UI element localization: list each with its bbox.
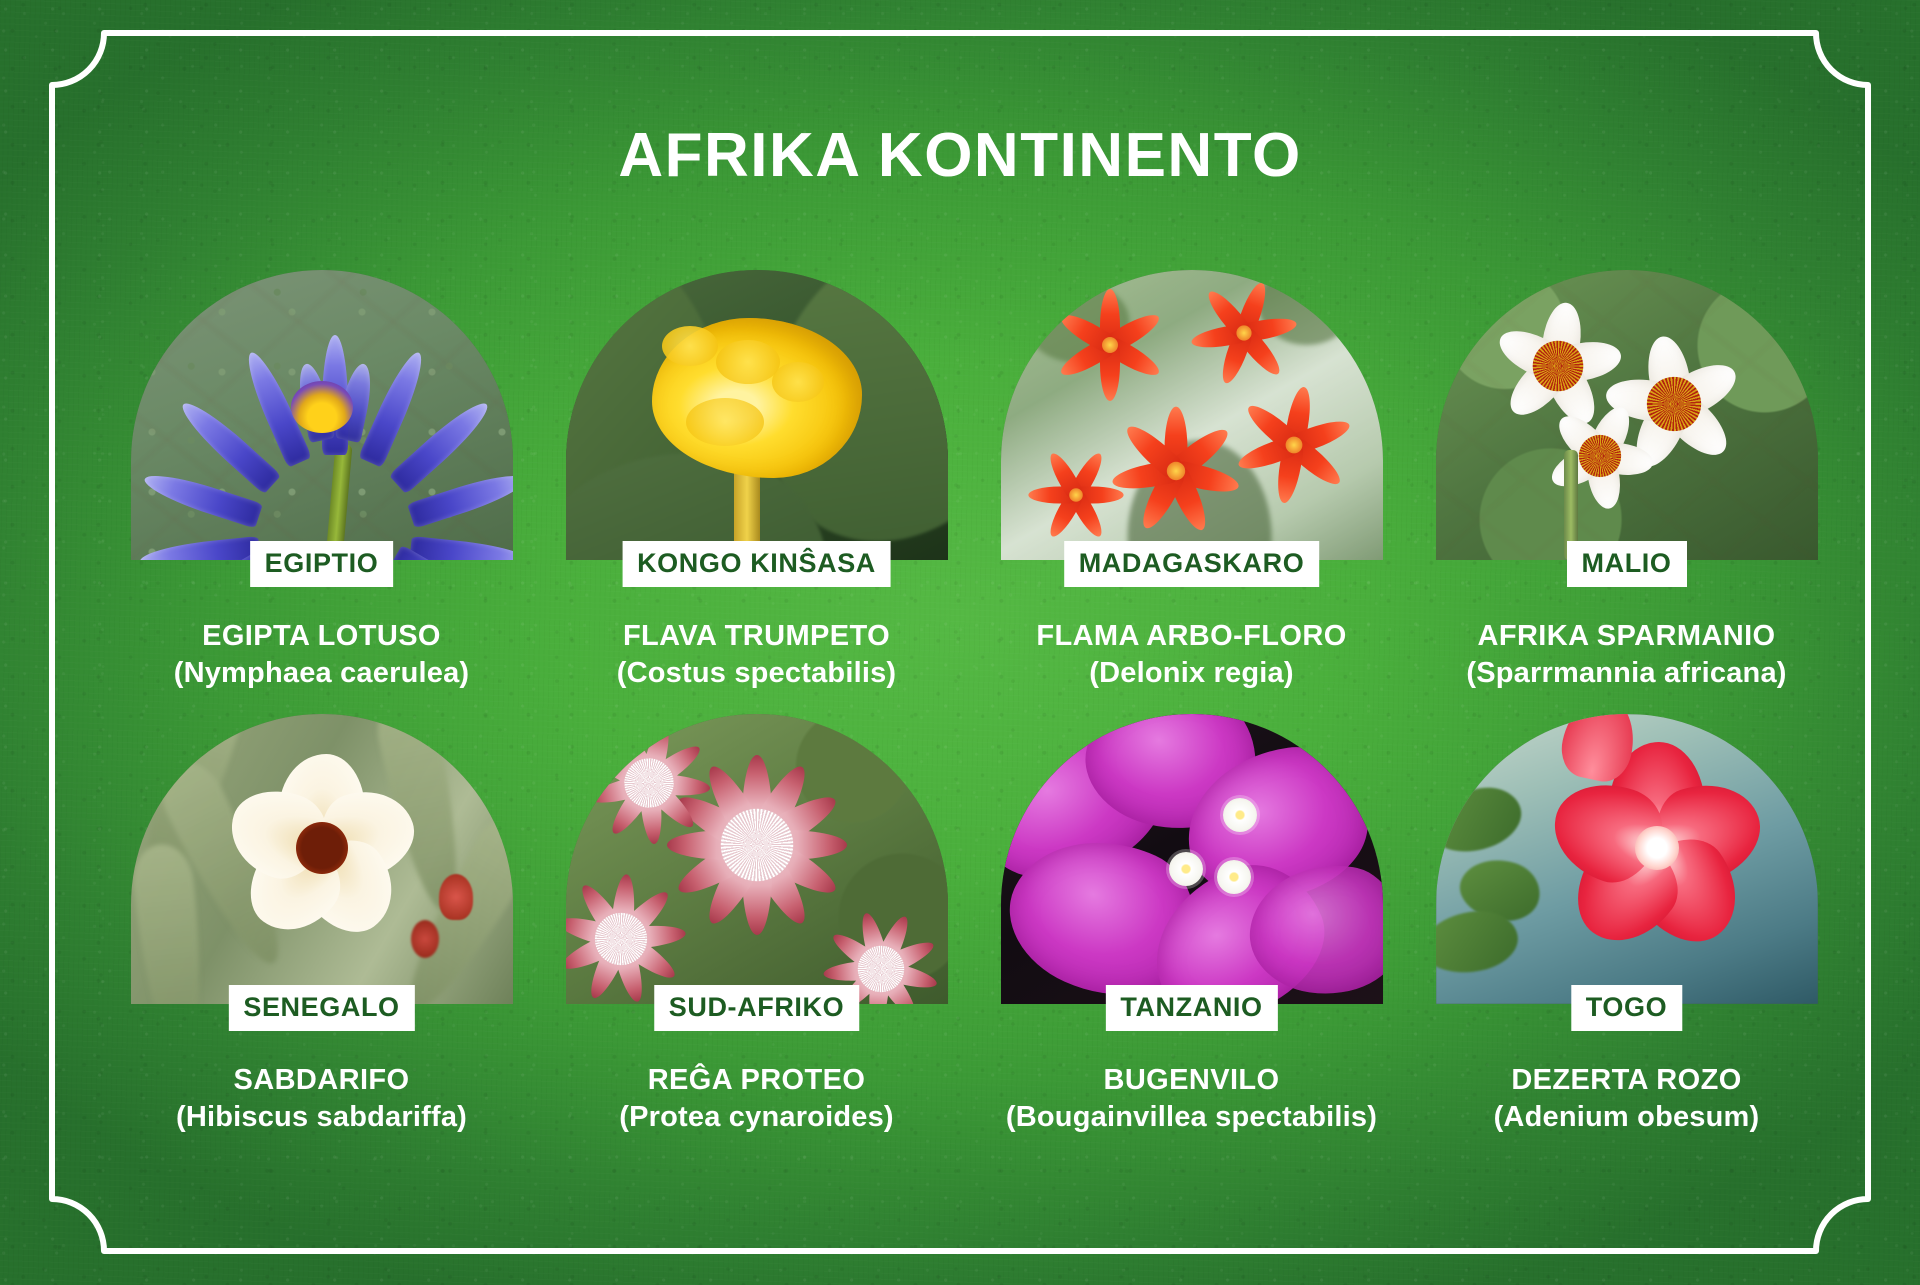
desert-rose-photo	[1436, 714, 1818, 1004]
photo-wrap: SUD-AFRIKO	[566, 714, 948, 1004]
photo-wrap: SENEGALO	[131, 714, 513, 1004]
common-name: SABDARIFO	[176, 1062, 467, 1099]
bougainvillea-photo	[1001, 714, 1383, 1004]
common-name: FLAMA ARBO-FLORO	[1036, 618, 1346, 655]
flower-card[interactable]: SENEGALO SABDARIFO (Hibiscus sabdariffa)	[104, 714, 539, 1136]
latin-name: (Bougainvillea spectabilis)	[1006, 1099, 1377, 1136]
country-badge: SUD-AFRIKO	[654, 985, 860, 1031]
latin-name: (Sparrmannia africana)	[1466, 655, 1786, 692]
country-badge: EGIPTIO	[250, 541, 394, 587]
king-protea-photo	[566, 714, 948, 1004]
flower-caption: FLAMA ARBO-FLORO (Delonix regia)	[1036, 618, 1346, 692]
flower-card[interactable]: MADAGASKARO FLAMA ARBO-FLORO (Delonix re…	[974, 270, 1409, 692]
latin-name: (Costus spectabilis)	[617, 655, 897, 692]
flower-caption: BUGENVILO (Bougainvillea spectabilis)	[1006, 1062, 1377, 1136]
common-name: FLAVA TRUMPETO	[617, 618, 897, 655]
photo-wrap: EGIPTIO	[131, 270, 513, 560]
page-title: AFRIKA KONTINENTO	[0, 120, 1920, 191]
country-badge: TANZANIO	[1105, 985, 1277, 1031]
common-name: AFRIKA SPARMANIO	[1466, 618, 1786, 655]
country-badge: MALIO	[1567, 541, 1687, 587]
country-badge: MADAGASKARO	[1064, 541, 1320, 587]
latin-name: (Protea cynaroides)	[619, 1099, 894, 1136]
flower-card[interactable]: TOGO DEZERTA ROZO (Adenium obesum)	[1409, 714, 1844, 1136]
flower-caption: AFRIKA SPARMANIO (Sparrmannia africana)	[1466, 618, 1786, 692]
common-name: BUGENVILO	[1006, 1062, 1377, 1099]
flower-card[interactable]: EGIPTIO EGIPTA LOTUSO (Nymphaea caerulea…	[104, 270, 539, 692]
latin-name: (Nymphaea caerulea)	[174, 655, 470, 692]
photo-wrap: KONGO KINŜASA	[566, 270, 948, 560]
blue-water-lily-photo	[131, 270, 513, 560]
flower-caption: FLAVA TRUMPETO (Costus spectabilis)	[617, 618, 897, 692]
flower-caption: SABDARIFO (Hibiscus sabdariffa)	[176, 1062, 467, 1136]
country-badge: SENEGALO	[228, 985, 414, 1031]
latin-name: (Adenium obesum)	[1494, 1099, 1760, 1136]
african-hemp-flower-photo	[1436, 270, 1818, 560]
photo-wrap: MADAGASKARO	[1001, 270, 1383, 560]
flower-card[interactable]: SUD-AFRIKO REĜA PROTEO (Protea cynaroide…	[539, 714, 974, 1136]
flower-card[interactable]: TANZANIO BUGENVILO (Bougainvillea specta…	[974, 714, 1409, 1136]
flower-caption: REĜA PROTEO (Protea cynaroides)	[619, 1062, 894, 1136]
latin-name: (Hibiscus sabdariffa)	[176, 1099, 467, 1136]
flower-card-grid: EGIPTIO EGIPTA LOTUSO (Nymphaea caerulea…	[104, 270, 1844, 1136]
latin-name: (Delonix regia)	[1036, 655, 1346, 692]
roselle-hibiscus-photo	[131, 714, 513, 1004]
photo-wrap: TANZANIO	[1001, 714, 1383, 1004]
photo-wrap: TOGO	[1436, 714, 1818, 1004]
flower-card[interactable]: MALIO AFRIKA SPARMANIO (Sparrmannia afri…	[1409, 270, 1844, 692]
yellow-trumpet-flower-photo	[566, 270, 948, 560]
poster-canvas: AFRIKA KONTINENTO	[0, 0, 1920, 1285]
flame-tree-flower-photo	[1001, 270, 1383, 560]
flower-caption: EGIPTA LOTUSO (Nymphaea caerulea)	[174, 618, 470, 692]
flower-caption: DEZERTA ROZO (Adenium obesum)	[1494, 1062, 1760, 1136]
country-badge: TOGO	[1571, 985, 1682, 1031]
photo-wrap: MALIO	[1436, 270, 1818, 560]
common-name: REĜA PROTEO	[619, 1062, 894, 1099]
flower-card[interactable]: KONGO KINŜASA FLAVA TRUMPETO (Costus spe…	[539, 270, 974, 692]
common-name: EGIPTA LOTUSO	[174, 618, 470, 655]
common-name: DEZERTA ROZO	[1494, 1062, 1760, 1099]
country-badge: KONGO KINŜASA	[622, 541, 891, 587]
